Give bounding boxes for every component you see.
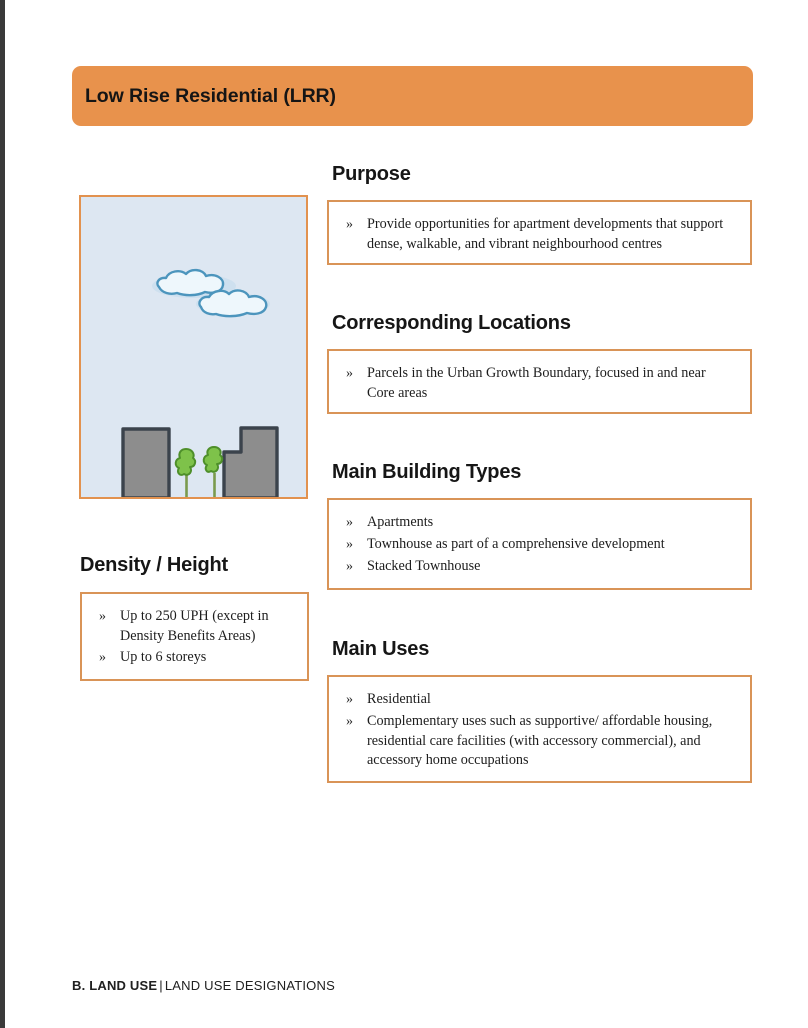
content-box-density-height: » Up to 250 UPH (except in Density Benef… <box>80 592 309 681</box>
footer-separator: | <box>157 978 165 993</box>
bullet-marker-icon: » <box>343 690 367 710</box>
illustration-frame <box>79 195 308 499</box>
list-item-text: Up to 6 storeys <box>120 648 293 668</box>
list-item: » Parcels in the Urban Growth Boundary, … <box>343 364 736 403</box>
list-item: » Up to 250 UPH (except in Density Benef… <box>96 607 293 646</box>
list-item: » Provide opportunities for apartment de… <box>343 215 736 254</box>
content-box-main-building-types: » Apartments » Townhouse as part of a co… <box>327 498 752 590</box>
page-header-banner: Low Rise Residential (LRR) <box>72 66 753 126</box>
content-box-purpose: » Provide opportunities for apartment de… <box>327 200 752 265</box>
bullet-marker-icon: » <box>96 607 120 627</box>
list-item: » Townhouse as part of a comprehensive d… <box>343 535 736 555</box>
content-box-main-uses: » Residential » Complementary uses such … <box>327 675 752 783</box>
section-heading-main-building-types: Main Building Types <box>332 461 521 484</box>
content-box-corresponding-locations: » Parcels in the Urban Growth Boundary, … <box>327 349 752 414</box>
bullet-marker-icon: » <box>343 535 367 555</box>
bullet-marker-icon: » <box>96 648 120 668</box>
page-title: Low Rise Residential (LRR) <box>72 85 336 108</box>
bullet-marker-icon: » <box>343 215 367 235</box>
list-item-text: Provide opportunities for apartment deve… <box>367 215 736 254</box>
bullet-marker-icon: » <box>343 557 367 577</box>
page-edge-strip <box>0 0 5 1028</box>
list-item-text: Up to 250 UPH (except in Density Benefit… <box>120 607 293 646</box>
bullet-marker-icon: » <box>343 364 367 384</box>
section-heading-main-uses: Main Uses <box>332 638 429 661</box>
bullet-marker-icon: » <box>343 712 367 732</box>
list-item: » Up to 6 storeys <box>96 648 293 668</box>
list-item-text: Apartments <box>367 513 736 533</box>
building-left <box>123 429 169 497</box>
footer-section-label: B. LAND USE <box>72 978 157 993</box>
section-heading-density-height: Density / Height <box>80 554 228 577</box>
list-item: » Apartments <box>343 513 736 533</box>
bullet-marker-icon: » <box>343 513 367 533</box>
document-page: Low Rise Residential (LRR) <box>0 0 808 1028</box>
list-item-text: Residential <box>367 690 736 710</box>
section-heading-purpose: Purpose <box>332 163 411 186</box>
list-item-text: Complementary uses such as supportive/ a… <box>367 712 736 771</box>
low-rise-residential-illustration <box>81 197 306 497</box>
list-item-text: Stacked Townhouse <box>367 557 736 577</box>
list-item: » Stacked Townhouse <box>343 557 736 577</box>
list-item: » Residential <box>343 690 736 710</box>
page-footer: B. LAND USE|LAND USE DESIGNATIONS <box>72 978 335 993</box>
list-item-text: Parcels in the Urban Growth Boundary, fo… <box>367 364 736 403</box>
list-item: » Complementary uses such as supportive/… <box>343 712 736 771</box>
footer-subsection-label: LAND USE DESIGNATIONS <box>165 978 335 993</box>
list-item-text: Townhouse as part of a comprehensive dev… <box>367 535 736 555</box>
section-heading-corresponding-locations: Corresponding Locations <box>332 312 571 335</box>
